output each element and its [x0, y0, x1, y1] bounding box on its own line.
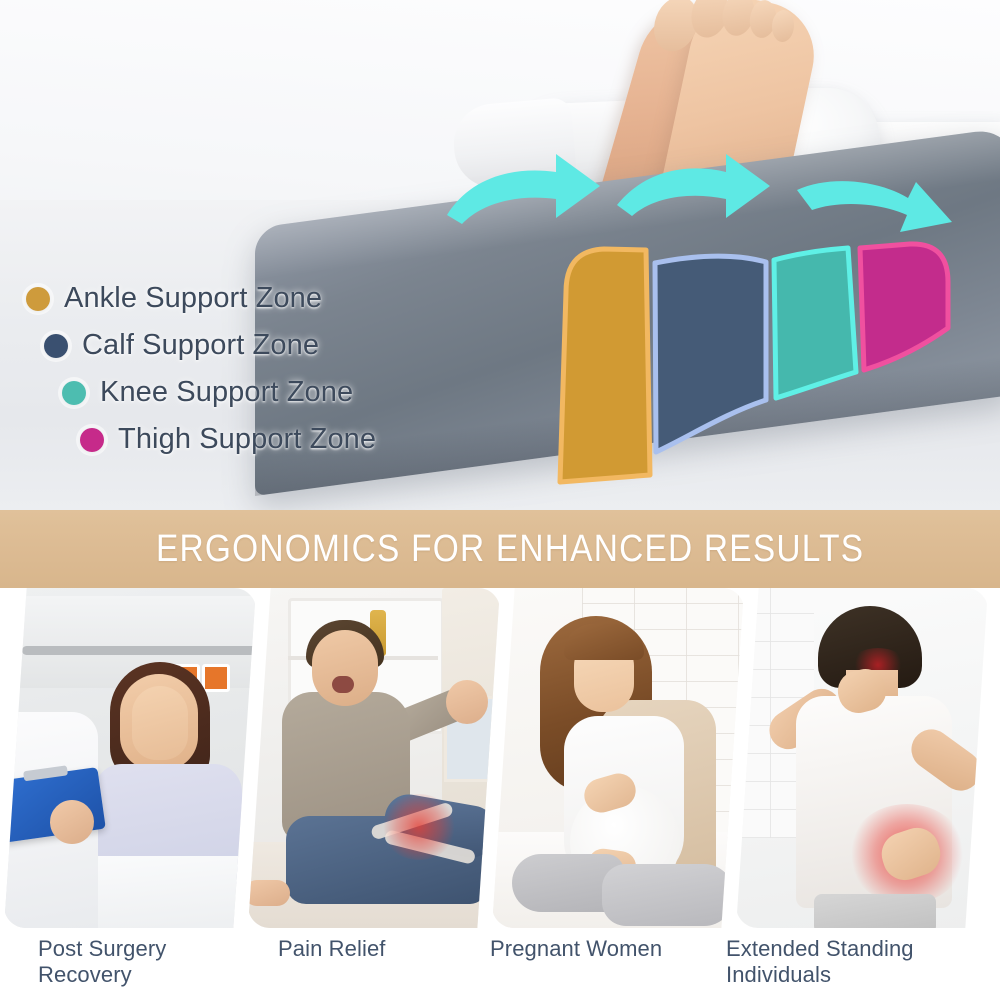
legend-item-calf: Calf Support Zone: [44, 329, 470, 362]
caption-line: Recovery: [38, 962, 268, 988]
legend-label: Calf Support Zone: [82, 329, 319, 362]
caption-line: Pain Relief: [278, 936, 508, 962]
zone-calf-shape: [655, 256, 766, 452]
legend-dot-icon: [62, 381, 86, 405]
caption-line: Individuals: [726, 962, 956, 988]
use-case-caption: Post Surgery Recovery: [38, 936, 268, 988]
legend-dot-icon: [44, 334, 68, 358]
legend-label: Knee Support Zone: [100, 376, 353, 409]
legend-item-knee: Knee Support Zone: [62, 376, 470, 409]
hero-photo-panel: Ankle Support Zone Calf Support Zone Kne…: [0, 0, 1000, 512]
woman-fringe: [564, 624, 644, 660]
use-case-caption: Extended Standing Individuals: [726, 936, 956, 988]
leg-right: [602, 864, 734, 926]
open-palm: [446, 680, 488, 724]
product-infographic: Ankle Support Zone Calf Support Zone Kne…: [0, 0, 1000, 1000]
extended-standing-photo: [736, 588, 988, 928]
wall-outlet-icon: [202, 664, 230, 692]
legend-dot-icon: [26, 287, 50, 311]
use-case-card: [248, 588, 500, 928]
legend-label: Thigh Support Zone: [118, 423, 376, 456]
zone-ankle-shape: [560, 249, 650, 482]
caption-line: Extended Standing: [726, 936, 956, 962]
knee-pain-glow: [382, 794, 456, 860]
use-case-card: [736, 588, 988, 928]
hospital-blanket: [74, 856, 256, 928]
pain-relief-photo: [248, 588, 500, 928]
man-head: [312, 630, 378, 706]
caption-line: Post Surgery: [38, 936, 268, 962]
headline-banner: ERGONOMICS FOR ENHANCED RESULTS: [0, 510, 1000, 588]
zone-knee-shape: [774, 248, 856, 398]
post-surgery-photo: [4, 588, 256, 928]
use-case-strip: Post Surgery Recovery Pain Relief Pregna…: [0, 588, 1000, 1000]
pants: [814, 894, 936, 928]
zone-thigh-shape: [860, 244, 948, 370]
use-case-caption: Pregnant Women: [490, 936, 720, 962]
grimacing-mouth: [332, 676, 354, 693]
bed-rail: [22, 646, 256, 655]
support-zone-legend: Ankle Support Zone Calf Support Zone Kne…: [0, 282, 470, 470]
patient-face: [132, 686, 188, 760]
pregnant-women-photo: [492, 588, 744, 928]
legend-label: Ankle Support Zone: [64, 282, 322, 315]
use-case-card: [4, 588, 256, 928]
bare-foot: [248, 880, 290, 906]
legend-item-ankle: Ankle Support Zone: [26, 282, 470, 315]
legend-item-thigh: Thigh Support Zone: [80, 423, 470, 456]
use-case-card: [492, 588, 744, 928]
use-case-caption: Pain Relief: [278, 936, 508, 962]
legend-dot-icon: [80, 428, 104, 452]
caption-line: Pregnant Women: [490, 936, 720, 962]
banner-headline: ERGONOMICS FOR ENHANCED RESULTS: [156, 528, 864, 571]
